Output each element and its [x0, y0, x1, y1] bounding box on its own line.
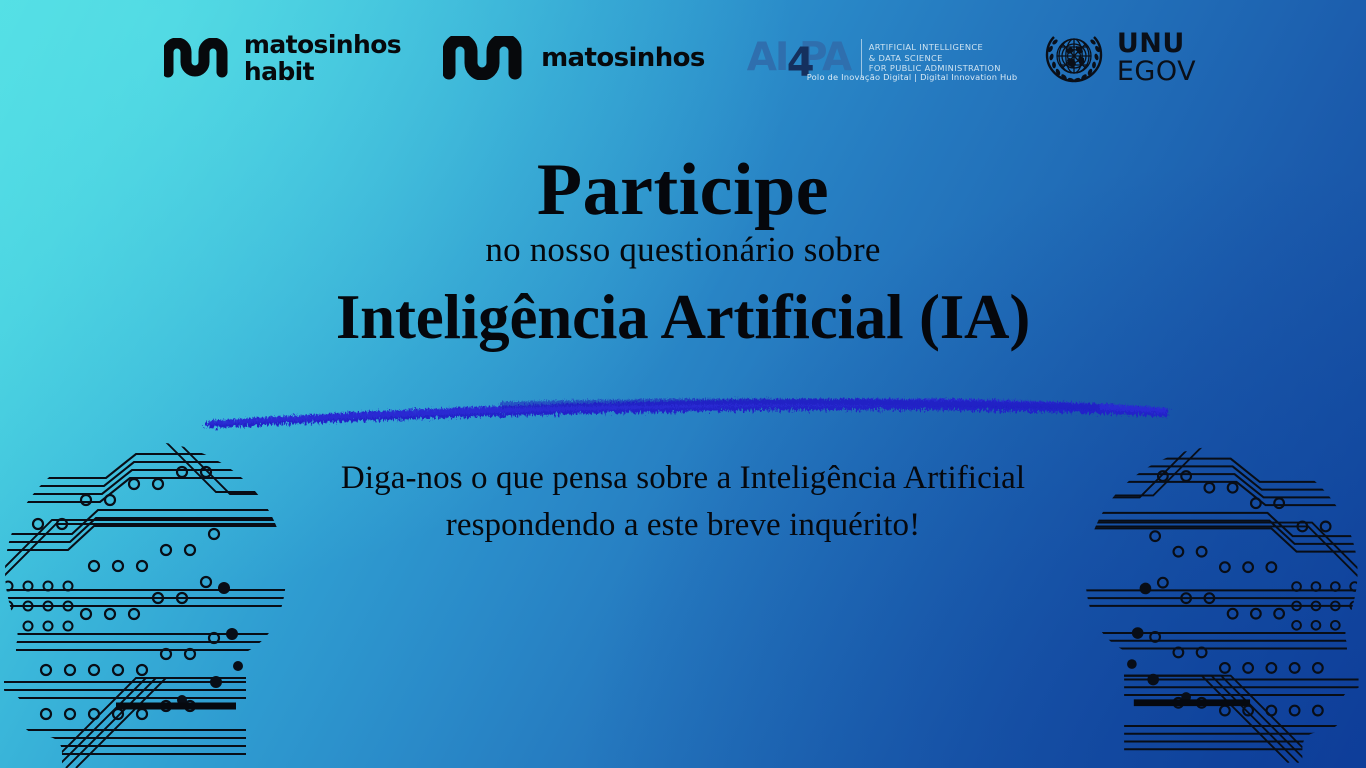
logo-matosinhos-habit: matosinhos habit	[164, 27, 401, 89]
body-copy: Diga-nos o que pensa sobre a Inteligênci…	[0, 455, 1366, 549]
unu-line2: EGOV	[1117, 57, 1196, 86]
body-line-1: Diga-nos o que pensa sobre a Inteligênci…	[0, 455, 1366, 502]
topic-title: Inteligência Artificial (IA)	[0, 278, 1366, 356]
logo-habit-line2: habit	[244, 58, 401, 85]
brush-stroke-divider-icon	[200, 388, 1175, 434]
logo-unu-egov: UNU EGOV	[1043, 27, 1196, 89]
logo-matosinhos-label: matosinhos	[541, 45, 705, 71]
page-subtitle: no nosso questionário sobre	[0, 228, 1366, 272]
headline-block: Participe no nosso questionário sobre In…	[0, 150, 1366, 356]
zigzag-m-icon	[164, 38, 230, 78]
logo-matosinhos: matosinhos	[443, 27, 705, 89]
un-emblem-icon	[1043, 29, 1105, 87]
zigzag-m-icon	[443, 36, 525, 80]
body-line-2: respondendo a este breve inquérito!	[0, 502, 1366, 549]
page-title: Participe	[0, 150, 1366, 230]
ai4pa-desc-line1: ARTIFICIAL INTELLIGENCE	[869, 42, 1001, 52]
logo-ai4pa: AI PA 4 ARTIFICIAL INTELLIGENCE & DATA S…	[747, 27, 1001, 89]
poster-canvas: matosinhos habit matosinhos AI PA 4 ARTI…	[0, 0, 1366, 768]
logo-habit-line1: matosinhos	[244, 31, 401, 58]
unu-line1: UNU	[1117, 30, 1196, 57]
ai4pa-desc-line2: & DATA SCIENCE	[869, 53, 1001, 63]
ai4pa-subtitle: Polo de Inovação Digital | Digital Innov…	[807, 71, 1018, 83]
logo-bar: matosinhos habit matosinhos AI PA 4 ARTI…	[0, 22, 1366, 94]
